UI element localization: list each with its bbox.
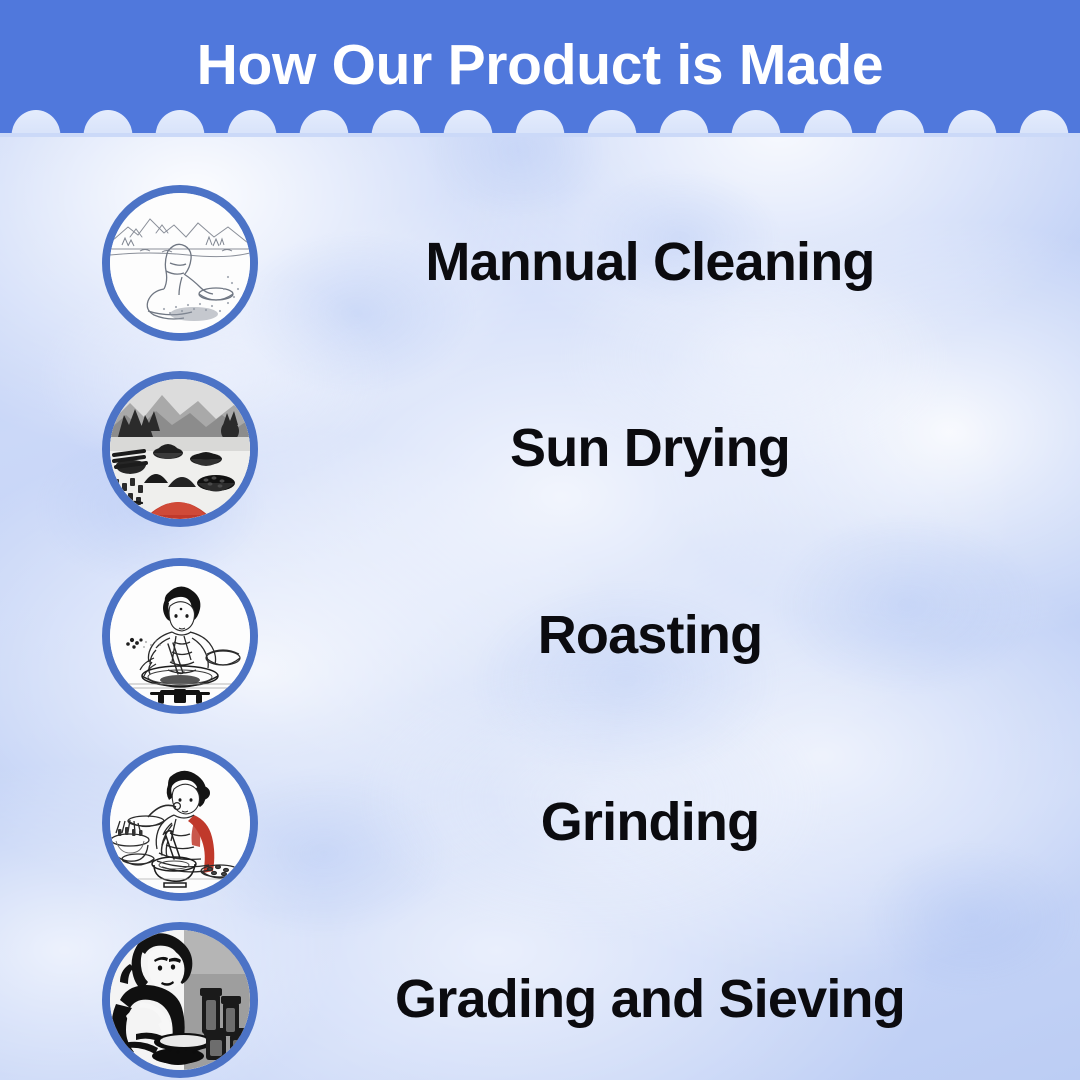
infographic-poster: How Our Product is Made bbox=[0, 0, 1080, 1080]
list-item: Roasting bbox=[0, 558, 1080, 718]
step-label: Sun Drying bbox=[300, 371, 1000, 527]
step-label: Roasting bbox=[300, 558, 1000, 714]
step-label: Grinding bbox=[300, 745, 1000, 901]
step-icon-woman-sieving-jars bbox=[102, 922, 258, 1078]
step-label: Grading and Sieving bbox=[300, 922, 1000, 1078]
step-label: Mannual Cleaning bbox=[300, 185, 1000, 341]
list-item: Grading and Sieving bbox=[0, 922, 1080, 1080]
step-icon-spices-drying-bowls bbox=[102, 371, 258, 527]
step-icon-woman-roasting-pan bbox=[102, 558, 258, 714]
list-item: Sun Drying bbox=[0, 371, 1080, 531]
step-icon-woman-cleaning-grain bbox=[102, 185, 258, 341]
page-title: How Our Product is Made bbox=[0, 36, 1080, 96]
step-icon-woman-grinding-mortar bbox=[102, 745, 258, 901]
list-item: Mannual Cleaning bbox=[0, 185, 1080, 345]
list-item: Grinding bbox=[0, 745, 1080, 905]
scalloped-divider bbox=[0, 103, 1080, 137]
process-steps-list: Mannual Cleaning bbox=[0, 0, 1080, 1080]
